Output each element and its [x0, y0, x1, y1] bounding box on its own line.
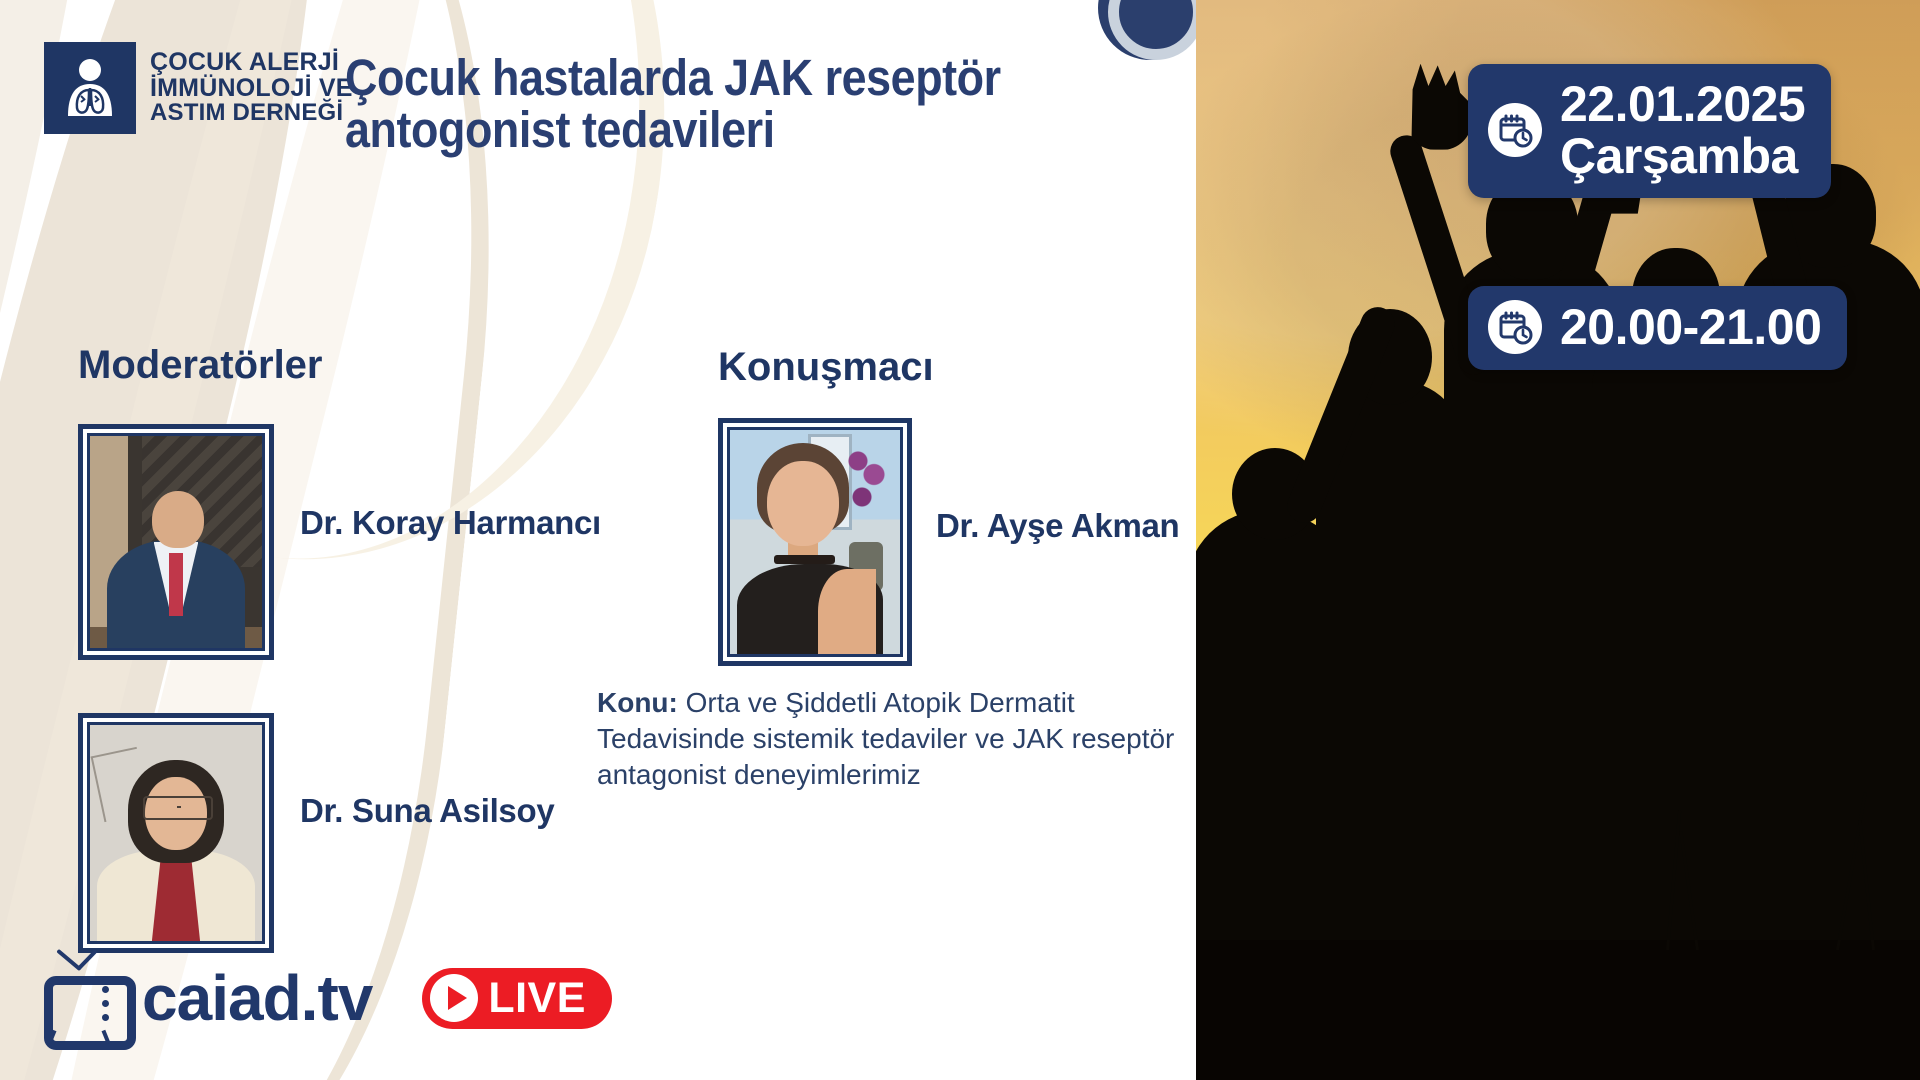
speaker-photo [718, 418, 912, 666]
brand-name: caiad.tv [142, 966, 372, 1030]
brand-footer[interactable]: caiad.tv LIVE [40, 960, 612, 1036]
moderator-photo-1 [78, 424, 274, 660]
moderator-name-2: Dr. Suna Asilsoy [300, 793, 554, 830]
association-line-1: ÇOCUK ALERJİ [150, 50, 353, 76]
torso-lungs-icon [44, 42, 136, 134]
time-badge: 20.00-21.00 [1468, 286, 1847, 370]
event-date: 22.01.2025 [1560, 76, 1805, 132]
calendar-clock-icon [1488, 103, 1542, 157]
play-icon [430, 974, 478, 1022]
speaker-topic: Konu: Orta ve Şiddetli Atopik Dermatit T… [597, 685, 1196, 792]
speaker-heading: Konuşmacı [718, 345, 934, 390]
association-logo: ÇOCUK ALERJİ İMMÜNOLOJİ VE ASTIM DERNEĞİ [44, 42, 353, 134]
event-time: 20.00-21.00 [1560, 301, 1821, 353]
webinar-poster: ÇOCUK ALERJİ İMMÜNOLOJİ VE ASTIM DERNEĞİ… [0, 0, 1920, 1080]
page-title: Çocuk hastalarda JAK reseptör antogonist… [345, 52, 1067, 156]
calendar-clock-icon [1488, 300, 1542, 354]
topic-text: Orta ve Şiddetli Atopik Dermatit Tedavis… [597, 687, 1174, 790]
moderator-name-1: Dr. Koray Harmancı [300, 505, 601, 542]
left-content-panel: ÇOCUK ALERJİ İMMÜNOLOJİ VE ASTIM DERNEĞİ… [0, 0, 1196, 1080]
speaker-name: Dr. Ayşe Akman [936, 508, 1179, 545]
moderator-photo-2 [78, 713, 274, 953]
association-line-2: İMMÜNOLOJİ VE [150, 76, 353, 102]
live-badge[interactable]: LIVE [422, 968, 612, 1029]
association-line-3: ASTIM DERNEĞİ [150, 101, 353, 125]
event-weekday: Çarşamba [1560, 128, 1798, 184]
television-icon [40, 960, 126, 1036]
date-badge: 22.01.2025 Çarşamba [1468, 64, 1831, 198]
live-label: LIVE [488, 974, 586, 1023]
moderators-heading: Moderatörler [78, 343, 323, 388]
topic-label: Konu: [597, 687, 678, 718]
